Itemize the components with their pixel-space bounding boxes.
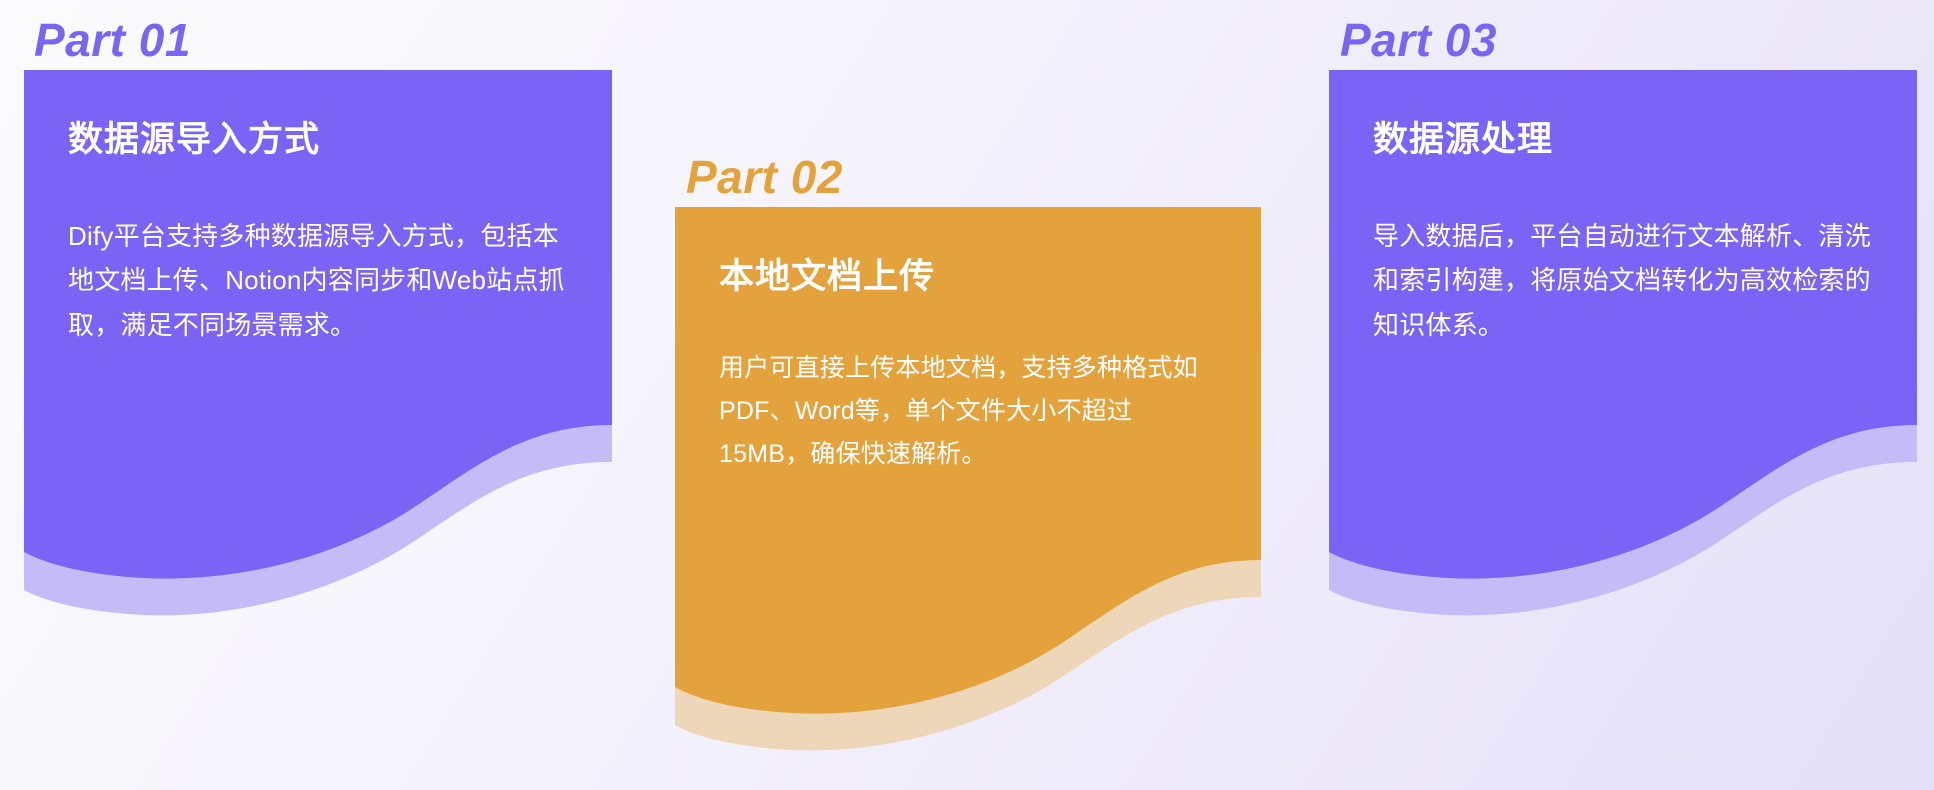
card-three-title: 数据源处理 bbox=[1373, 118, 1873, 162]
card-two-title: 本地文档上传 bbox=[719, 255, 1217, 299]
card-one-body-text: Dify平台支持多种数据源导入方式，包括本地文档上传、Notion内容同步和We… bbox=[68, 214, 568, 348]
slide-canvas: Part 01 数据源导入方式 Dify平台支持多种数据源导入方式，包括本地文档… bbox=[0, 0, 1934, 790]
card-one-content: 数据源导入方式 Dify平台支持多种数据源导入方式，包括本地文档上传、Notio… bbox=[24, 70, 612, 348]
part-label-02: Part 02 bbox=[686, 154, 843, 200]
card-three-content: 数据源处理 导入数据后，平台自动进行文本解析、清洗和索引构建，将原始文档转化为高… bbox=[1329, 70, 1917, 348]
card-three-body-text: 导入数据后，平台自动进行文本解析、清洗和索引构建，将原始文档转化为高效检索的知识… bbox=[1373, 214, 1873, 348]
card-two-body-text: 用户可直接上传本地文档，支持多种格式如PDF、Word等，单个文件大小不超过15… bbox=[719, 347, 1217, 476]
card-one-title: 数据源导入方式 bbox=[68, 118, 568, 162]
card-part-01[interactable]: 数据源导入方式 Dify平台支持多种数据源导入方式，包括本地文档上传、Notio… bbox=[24, 70, 612, 600]
card-part-03[interactable]: 数据源处理 导入数据后，平台自动进行文本解析、清洗和索引构建，将原始文档转化为高… bbox=[1329, 70, 1917, 600]
part-label-03: Part 03 bbox=[1340, 17, 1497, 63]
part-label-01: Part 01 bbox=[34, 17, 191, 63]
card-two-content: 本地文档上传 用户可直接上传本地文档，支持多种格式如PDF、Word等，单个文件… bbox=[675, 207, 1261, 476]
card-part-02[interactable]: 本地文档上传 用户可直接上传本地文档，支持多种格式如PDF、Word等，单个文件… bbox=[675, 207, 1261, 737]
